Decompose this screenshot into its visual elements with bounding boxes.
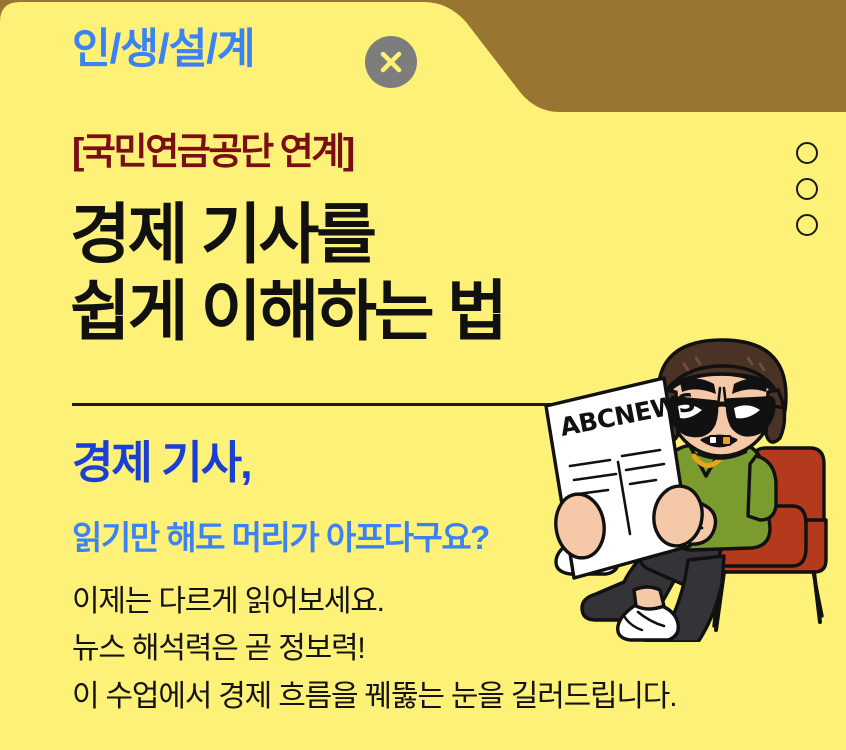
person-reading-newspaper-illustration: ABCNEWS: [538, 330, 846, 642]
close-icon: [365, 36, 417, 88]
brand-title: 인/생/설/계: [72, 28, 255, 70]
page-title: 경제 기사를 쉽게 이해하는 법: [70, 196, 505, 350]
circle-outline-icon: [796, 214, 818, 236]
eyebrow-label: [국민연금공단 연계]: [72, 133, 353, 170]
divider: [72, 403, 556, 406]
promo-card-stage: 인/생/설/계 [국민연금공단 연계] 경제 기사를 쉽게 이해하는 법 경제 …: [0, 0, 846, 750]
circle-outline-icon: [796, 178, 818, 200]
sub-heading: 경제 기사,: [72, 440, 251, 485]
close-button[interactable]: [365, 36, 417, 88]
circle-outline-icon: [796, 142, 818, 164]
sub-question: 읽기만 해도 머리가 아프다구요?: [72, 521, 489, 554]
dots-group: [796, 142, 818, 236]
